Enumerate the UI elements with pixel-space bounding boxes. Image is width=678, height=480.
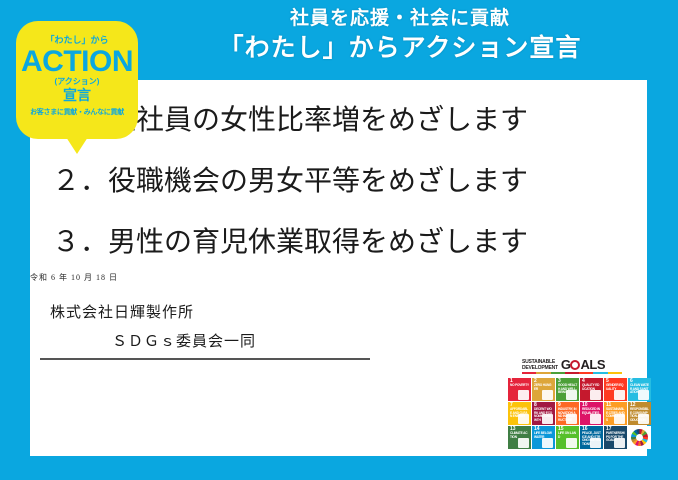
sdgs-colorbar-segment: [551, 372, 565, 374]
sdgs-colorbar-segment: [522, 372, 536, 374]
sdgs-goals-g: G: [561, 357, 571, 372]
sdgs-goal-tile-7[interactable]: 7AFFORDABLE AND CLEAN ENERGY: [508, 402, 531, 425]
badge-tagline: お客さまに貢献・みんなに貢献: [16, 108, 138, 117]
poster-header: 社員を応援・社会に貢献 「わたし」からアクション宣言: [150, 6, 650, 76]
header-subtitle: 社員を応援・社会に貢献: [150, 6, 650, 32]
sdgs-goals-o-ring-icon: [570, 360, 580, 370]
sdgs-goal-grid: 1NO POVERTY2ZERO HUNGER3GOOD HEALTH AND …: [508, 378, 645, 449]
sdgs-colorbar-segment: [565, 372, 579, 374]
sdgs-goal-tile-14[interactable]: 14LIFE BELOW WATER: [532, 426, 555, 449]
sdgs-goal-pictogram-icon: [590, 414, 601, 424]
signature-date: 令和 6 年 10 月 18 日: [12, 272, 372, 283]
sdgs-goal-tile-4[interactable]: 4QUALITY EDUCATION: [580, 378, 603, 401]
sdgs-goal-tile-9[interactable]: 9INDUSTRY, INNOVATION AND INFRASTRUCTURE: [556, 402, 579, 425]
signature-committee: ＳＤＧｓ委員会一同: [12, 330, 372, 351]
sdgs-goal-pictogram-icon: [566, 414, 577, 424]
sdgs-goal-pictogram-icon: [542, 438, 553, 448]
sdgs-goal-pictogram-icon: [566, 390, 577, 400]
sdgs-goal-tile-8[interactable]: 8DECENT WORK AND ECONOMIC GROWTH: [532, 402, 555, 425]
sdgs-colorbar-segment: [593, 372, 607, 374]
sdgs-goal-pictogram-icon: [638, 390, 649, 400]
sdgs-goal-pictogram-icon: [566, 438, 577, 448]
sdgs-colorbar-segment: [536, 372, 550, 374]
badge-kana-text: (アクション): [16, 77, 138, 87]
badge-action-text: ACTION: [16, 46, 138, 77]
sdgs-colorbar: [522, 372, 622, 374]
signature-company: 株式会社日輝製作所: [12, 301, 372, 322]
sdgs-goal-tile-12[interactable]: 12RESPONSIBLE CONSUMPTION AND PRODUCTION: [628, 402, 651, 425]
sdgs-goal-pictogram-icon: [542, 414, 553, 424]
action-declaration-poster: 社員を応援・社会に貢献 「わたし」からアクション宣言 「わたし」から ACTIO…: [0, 0, 678, 480]
sdgs-goal-tile-2[interactable]: 2ZERO HUNGER: [532, 378, 555, 401]
sdgs-goal-pictogram-icon: [518, 414, 529, 424]
sdgs-colorbar-segment: [608, 372, 622, 374]
sdgs-goal-pictogram-icon: [638, 414, 649, 424]
sdgs-goal-tile-1[interactable]: 1NO POVERTY: [508, 378, 531, 401]
sdgs-goal-pictogram-icon: [590, 438, 601, 448]
sdgs-goal-pictogram-icon: [614, 438, 625, 448]
sdgs-goal-pictogram-icon: [518, 390, 529, 400]
sdgs-goal-tile-11[interactable]: 11SUSTAINABLE CITIES AND COMMUNITIES: [604, 402, 627, 425]
sdgs-wheel-ring: [631, 429, 648, 446]
sdgs-word-development: DEVELOPMENT: [522, 366, 558, 372]
sdgs-goal-pictogram-icon: [614, 414, 625, 424]
sdgs-wordmark: SUSTAINABLE DEVELOPMENT GALS: [500, 356, 645, 371]
sdgs-goal-pictogram-icon: [614, 390, 625, 400]
declaration-item-2: ２．役職機会の男女平等をめざします: [52, 151, 612, 212]
sdgs-goal-tile-17[interactable]: 17PARTNERSHIPS FOR THE GOALS: [604, 426, 627, 449]
sdgs-goal-tile-15[interactable]: 15LIFE ON LAND: [556, 426, 579, 449]
action-badge: 「わたし」から ACTION (アクション) 宣言 お客さまに貢献・みんなに貢献: [16, 21, 138, 139]
sdgs-goal-name: NO POVERTY: [510, 384, 529, 388]
header-title: 「わたし」からアクション宣言: [150, 32, 650, 64]
sdgs-goals-tail: ALS: [580, 357, 605, 372]
sdgs-color-wheel-icon[interactable]: [628, 426, 651, 449]
sdgs-goal-tile-16[interactable]: 16PEACE, JUSTICE AND STRONG INSTITUTIONS: [580, 426, 603, 449]
sdgs-goal-tile-5[interactable]: 5GENDER EQUALITY: [604, 378, 627, 401]
sdgs-logo-panel: SUSTAINABLE DEVELOPMENT GALS 1NO POVERTY…: [500, 356, 645, 454]
sdgs-goal-tile-13[interactable]: 13CLIMATE ACTION: [508, 426, 531, 449]
sdgs-word-goals: GALS: [561, 358, 605, 371]
sdgs-goal-tile-10[interactable]: 10REDUCED INEQUALITIES: [580, 402, 603, 425]
declaration-item-3: ３．男性の育児休業取得をめざします: [52, 212, 612, 273]
sdgs-goal-pictogram-icon: [542, 390, 553, 400]
sdgs-goal-pictogram-icon: [518, 438, 529, 448]
sdgs-goal-pictogram-icon: [590, 390, 601, 400]
sdgs-goal-tile-3[interactable]: 3GOOD HEALTH AND WELL-BEING: [556, 378, 579, 401]
badge-sengen-text: 宣言: [16, 87, 138, 103]
sdgs-goal-tile-6[interactable]: 6CLEAN WATER AND SANITATION: [628, 378, 651, 401]
sdgs-wordmark-lines: SUSTAINABLE DEVELOPMENT: [522, 360, 558, 371]
sdgs-colorbar-segment: [579, 372, 593, 374]
signature-block: 令和 6 年 10 月 18 日 株式会社日輝製作所 ＳＤＧｓ委員会一同: [12, 272, 372, 360]
signature-underline: [40, 358, 370, 360]
